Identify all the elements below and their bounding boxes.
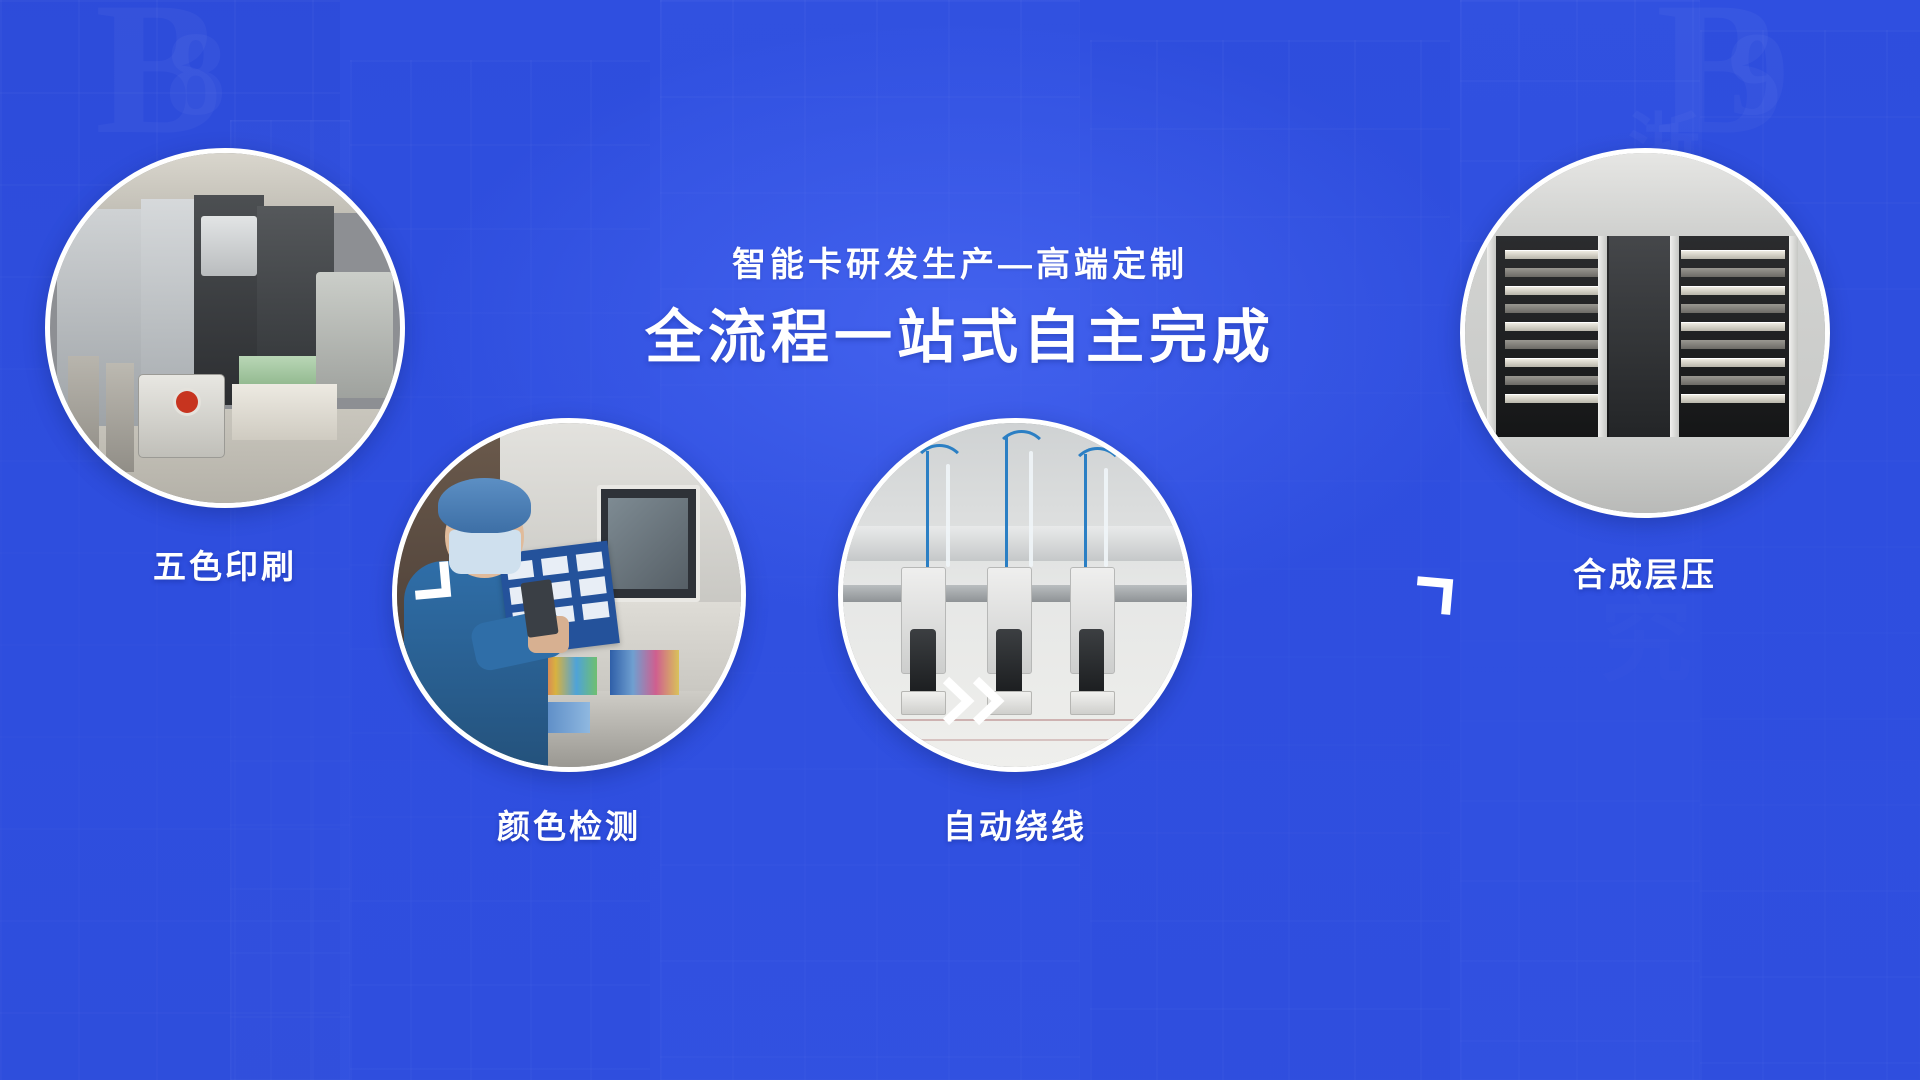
step-1-label: 五色印刷 xyxy=(153,540,297,588)
step-2-label: 颜色检测 xyxy=(497,800,641,848)
process-step-1[interactable]: 五色印刷 xyxy=(45,148,405,508)
arrow-step2-to-step3 xyxy=(938,670,1012,732)
process-step-4[interactable]: 合成层压 xyxy=(1460,148,1830,518)
promo-banner: B 8 B 9 浙 究 智能卡研发生产—高端定制 全流程一站式自主完成 xyxy=(0,0,1920,1080)
photo-lamination-press xyxy=(1460,148,1830,518)
step-4-label: 合成层压 xyxy=(1573,548,1717,596)
process-step-3[interactable]: 自动绕线 xyxy=(838,418,1192,772)
step-3-label: 自动绕线 xyxy=(943,800,1087,848)
photo-automatic-coil-winding-machine xyxy=(838,418,1192,772)
photo-offset-printing-press xyxy=(45,148,405,508)
